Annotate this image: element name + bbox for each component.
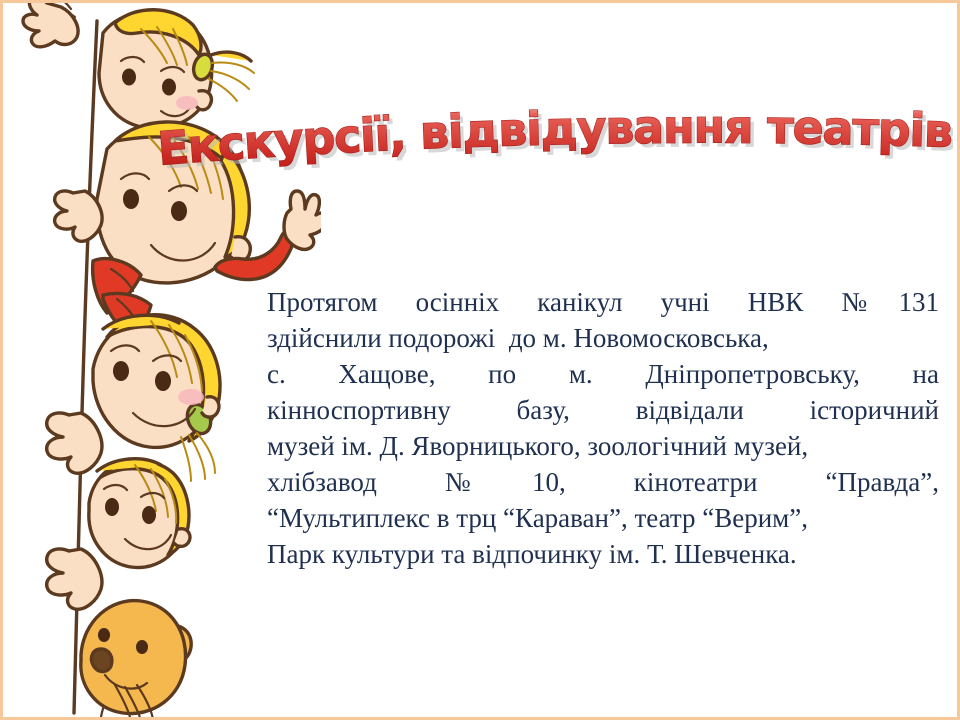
- body-line-4: кінноспортивну базу, відвідали історични…: [267, 392, 939, 428]
- eye-right: [136, 640, 148, 654]
- figure-teddy-bear: [81, 601, 191, 720]
- eye-right: [155, 371, 171, 391]
- body-line-5: музей ім. Д. Яворницького, зоологічний м…: [267, 428, 939, 464]
- body-line-2: здійснили подорожі до м. Новомосковська,: [267, 320, 939, 356]
- figure-child-small: [47, 459, 190, 610]
- hand-top: [23, 0, 78, 47]
- hand-grip-lower: [47, 549, 102, 609]
- eye-left: [98, 628, 110, 642]
- eye-left: [113, 361, 129, 381]
- eye-left: [105, 498, 119, 516]
- wall-edge: [74, 21, 106, 717]
- hair-band-green: [183, 401, 215, 437]
- waving-arm: [215, 191, 321, 280]
- body-line-1: Протягом осінніх канікул учні НВК №131: [267, 284, 939, 320]
- hand-grip-upper: [55, 191, 102, 241]
- body-line-3: с. Хащове, по м. Дніпропетровську, на: [267, 356, 939, 392]
- body-line-7: “Мультиплекс в трц “Караван”, театр “Вер…: [267, 500, 939, 536]
- hand-grip-middle: [47, 413, 102, 473]
- body-line-6: хлібзавод №10, кінотеатри “Правда”,: [267, 464, 939, 500]
- eye-right: [171, 201, 187, 221]
- bear-nose: [91, 649, 111, 672]
- slide-title: Екскурсії, відвідування театрів, музеїв,…: [153, 91, 953, 187]
- title-textpath: Екскурсії, відвідування театрів, музеїв,…: [153, 91, 953, 176]
- body-line-8: Парк культури та відпочинку ім. Т. Шевче…: [267, 536, 939, 572]
- eye-left: [122, 69, 136, 86]
- title-text: Екскурсії, відвідування театрів, музеїв,…: [153, 91, 953, 176]
- hair-band-yellow: [191, 52, 215, 82]
- presentation-slide: .ol { stroke:#5c3a20; stroke-width:3.4; …: [0, 0, 960, 720]
- eye-right: [142, 506, 156, 524]
- body-paragraph: Протягом осінніх канікул учні НВК №131 з…: [267, 284, 939, 572]
- eye-left: [123, 189, 139, 209]
- figure-girl-green-band: [47, 293, 220, 481]
